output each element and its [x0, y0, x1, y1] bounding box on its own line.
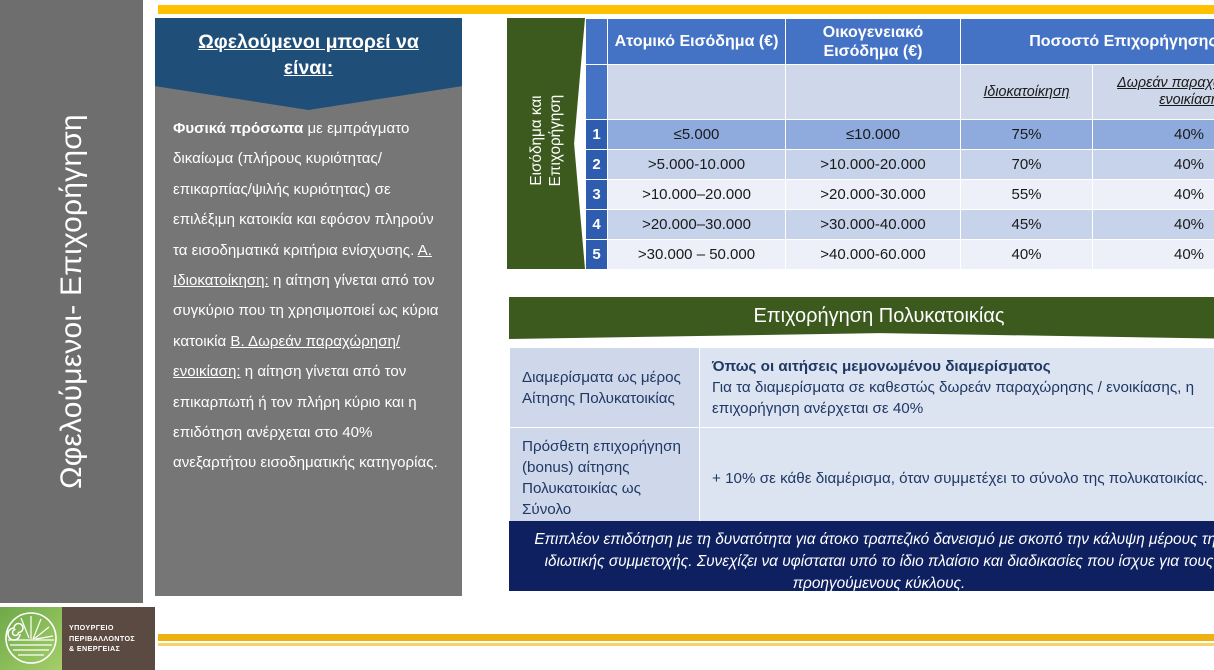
side-title-band: Ωφελούμενοι- Επιχορήγηση	[0, 0, 143, 603]
cell-owner-occupied: 70%	[961, 150, 1093, 180]
header-owner-occupied: Ιδιοκατοίκηση	[961, 65, 1093, 120]
table-row: Διαμερίσματα ως μέρος Αίτησης Πολυκατοικ…	[510, 348, 1214, 428]
header-index-sub	[586, 65, 608, 120]
cell-individual-income: >30.000 – 50.000	[608, 240, 786, 270]
loan-footnote: Επιπλέον επιδότηση με τη δυνατότητα για …	[509, 521, 1214, 591]
income-arrow-label: Εισόδημα και Επιχορήγηση	[507, 18, 585, 269]
cell-individual-income: >10.000–20.000	[608, 180, 786, 210]
cell-family-income: ≤10.000	[786, 120, 961, 150]
table-row: Πρόσθετη επιχορήγηση (bonus) αίτησης Πολ…	[510, 428, 1214, 529]
header-family-income: Οικογενειακό Εισόδημα (€)	[786, 19, 961, 65]
table-row: 4 >20.000–30.000 >30.000-40.000 45% 40%	[586, 210, 1214, 240]
poly-row-label: Διαμερίσματα ως μέρος Αίτησης Πολυκατοικ…	[510, 348, 700, 428]
top-amber-rule	[158, 5, 1214, 14]
cell-free-grant-rent: 40%	[1093, 240, 1214, 270]
income-subsidy-table: Ατομικό Εισόδημα (€) Οικογενειακό Εισόδη…	[585, 18, 1214, 270]
poly-row-value: Όπως οι αιτήσεις μεμονωμένου διαμερίσματ…	[700, 348, 1214, 428]
ministry-logo-line-3: & ΕΝΕΡΓΕΙΑΣ	[69, 644, 155, 655]
cell-free-grant-rent: 40%	[1093, 210, 1214, 240]
ministry-logo-line-1: ΥΠΟΥΡΓΕΙΟ	[69, 623, 155, 634]
ministry-logo-text: ΥΠΟΥΡΓΕΙΟ ΠΕΡΙΒΑΛΛΟΝΤΟΣ & ΕΝΕΡΓΕΙΑΣ	[62, 607, 155, 670]
table-row: 3 >10.000–20.000 >20.000-30.000 55% 40%	[586, 180, 1214, 210]
polykatoikia-table: Διαμερίσματα ως μέρος Αίτησης Πολυκατοικ…	[509, 347, 1214, 529]
poly-row-value: + 10% σε κάθε διαμέρισμα, όταν συμμετέχε…	[700, 428, 1214, 529]
cell-individual-income: >20.000–30.000	[608, 210, 786, 240]
cell-family-income: >10.000-20.000	[786, 150, 961, 180]
cell-owner-occupied: 45%	[961, 210, 1093, 240]
cell-family-income: >20.000-30.000	[786, 180, 961, 210]
cell-individual-income: ≤5.000	[608, 120, 786, 150]
beneficiaries-card-body: Φυσικά πρόσωπα με εμπράγματο δικαίωμα (π…	[155, 114, 462, 479]
header-index	[586, 19, 608, 65]
ministry-emblem-icon	[0, 607, 62, 670]
cell-free-grant-rent: 40%	[1093, 120, 1214, 150]
income-table-body: 1 ≤5.000 ≤10.000 75% 40% 2 >5.000-10.000…	[586, 120, 1214, 270]
row-index: 1	[586, 120, 608, 150]
beneficiaries-card-heading: Ωφελούμενοι μπορεί να είναι:	[155, 18, 462, 110]
row-index: 2	[586, 150, 608, 180]
row-index: 4	[586, 210, 608, 240]
cell-owner-occupied: 75%	[961, 120, 1093, 150]
cell-family-income: >30.000-40.000	[786, 210, 961, 240]
header-individual-income-sub	[608, 65, 786, 120]
side-title-text: Ωφελούμενοι- Επιχορήγηση	[0, 0, 143, 603]
poly-row-label: Πρόσθετη επιχορήγηση (bonus) αίτησης Πολ…	[510, 428, 700, 529]
cell-free-grant-rent: 40%	[1093, 180, 1214, 210]
income-arrow-tab: Εισόδημα και Επιχορήγηση	[507, 18, 585, 269]
header-individual-income: Ατομικό Εισόδημα (€)	[608, 19, 786, 65]
polykatoikia-banner: Επιχορήγηση Πολυκατοικίας	[509, 297, 1214, 339]
cell-free-grant-rent: 40%	[1093, 150, 1214, 180]
cell-owner-occupied: 55%	[961, 180, 1093, 210]
cell-owner-occupied: 40%	[961, 240, 1093, 270]
slide-canvas: Ωφελούμενοι- Επιχορήγηση Ωφελούμενοι μπο…	[0, 0, 1214, 670]
header-free-grant-rent: Δωρεάν παραχώρηση/ενοικίαση	[1093, 65, 1214, 120]
row-index: 5	[586, 240, 608, 270]
row-index: 3	[586, 180, 608, 210]
income-arrow-label-line1: Εισόδημα και	[527, 95, 546, 187]
bottom-amber-rule-thin	[158, 643, 1214, 646]
bottom-amber-rule-thick	[158, 634, 1214, 641]
table-row: 1 ≤5.000 ≤10.000 75% 40%	[586, 120, 1214, 150]
header-subsidy-rate: Ποσοστό Επιχορήγησης	[961, 19, 1214, 65]
income-table-header-row-2: Ιδιοκατοίκηση Δωρεάν παραχώρηση/ενοικίασ…	[586, 65, 1214, 120]
income-arrow-label-line2: Επιχορήγηση	[546, 95, 565, 187]
cell-individual-income: >5.000-10.000	[608, 150, 786, 180]
cell-family-income: >40.000-60.000	[786, 240, 961, 270]
beneficiaries-card: Ωφελούμενοι μπορεί να είναι: Φυσικά πρόσ…	[155, 18, 462, 596]
ministry-logo-line-2: ΠΕΡΙΒΑΛΛΟΝΤΟΣ	[69, 634, 155, 645]
table-row: 5 >30.000 – 50.000 >40.000-60.000 40% 40…	[586, 240, 1214, 270]
header-family-income-sub	[786, 65, 961, 120]
ministry-logo: ΥΠΟΥΡΓΕΙΟ ΠΕΡΙΒΑΛΛΟΝΤΟΣ & ΕΝΕΡΓΕΙΑΣ	[0, 607, 155, 670]
income-table-header-row-1: Ατομικό Εισόδημα (€) Οικογενειακό Εισόδη…	[586, 19, 1214, 65]
table-row: 2 >5.000-10.000 >10.000-20.000 70% 40%	[586, 150, 1214, 180]
